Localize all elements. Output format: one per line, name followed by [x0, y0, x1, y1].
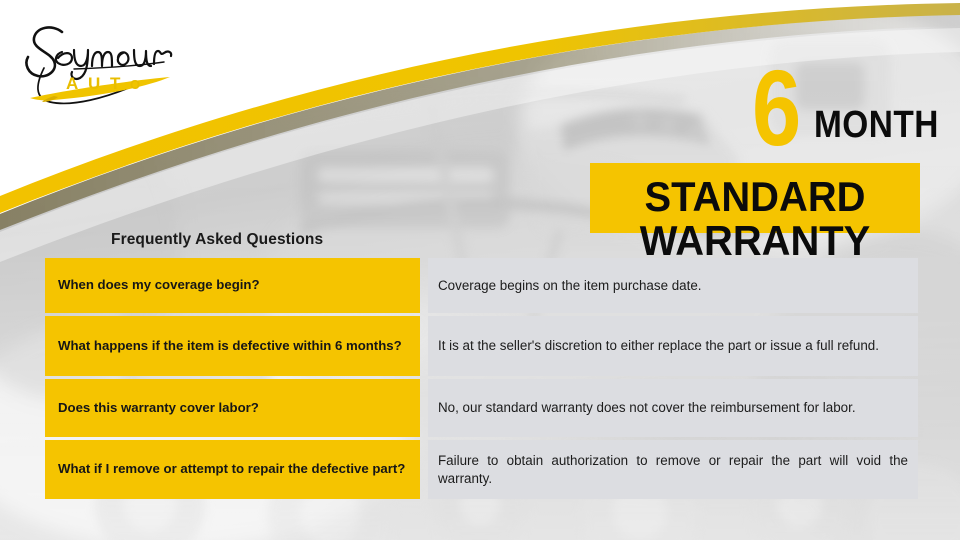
- faq-question: What happens if the item is defective wi…: [45, 316, 420, 376]
- warranty-term-number: 6: [752, 54, 800, 162]
- brand-logo: A U T O: [14, 18, 194, 114]
- warranty-title: STANDARD WARRANTY: [598, 175, 912, 263]
- faq-table: When does my coverage begin? Coverage be…: [45, 258, 918, 502]
- faq-answer: Failure to obtain authorization to remov…: [428, 440, 918, 499]
- faq-answer: No, our standard warranty does not cover…: [428, 379, 918, 437]
- svg-text:U: U: [88, 74, 106, 93]
- column-gap: [420, 379, 428, 437]
- warranty-term-unit: MONTH: [814, 106, 939, 144]
- table-row: When does my coverage begin? Coverage be…: [45, 258, 918, 313]
- faq-answer: It is at the seller's discretion to eith…: [428, 316, 918, 376]
- warranty-term: 6 MONTH: [586, 58, 920, 158]
- column-gap: [420, 258, 428, 313]
- column-gap: [420, 440, 428, 499]
- svg-text:T: T: [110, 74, 126, 93]
- svg-text:A: A: [66, 74, 84, 93]
- svg-text:O: O: [130, 77, 146, 92]
- table-row: Does this warranty cover labor? No, our …: [45, 379, 918, 437]
- faq-heading: Frequently Asked Questions: [111, 231, 323, 249]
- faq-question: Does this warranty cover labor?: [45, 379, 420, 437]
- column-gap: [420, 316, 428, 376]
- table-row: What happens if the item is defective wi…: [45, 316, 918, 376]
- faq-question: When does my coverage begin?: [45, 258, 420, 313]
- warranty-title-bar: STANDARD WARRANTY: [590, 163, 920, 233]
- faq-answer: Coverage begins on the item purchase dat…: [428, 258, 918, 313]
- faq-question: What if I remove or attempt to repair th…: [45, 440, 420, 499]
- warranty-slide: A U T O 6 MONTH STANDARD WARRANTY Freque…: [0, 0, 960, 540]
- table-row: What if I remove or attempt to repair th…: [45, 440, 918, 499]
